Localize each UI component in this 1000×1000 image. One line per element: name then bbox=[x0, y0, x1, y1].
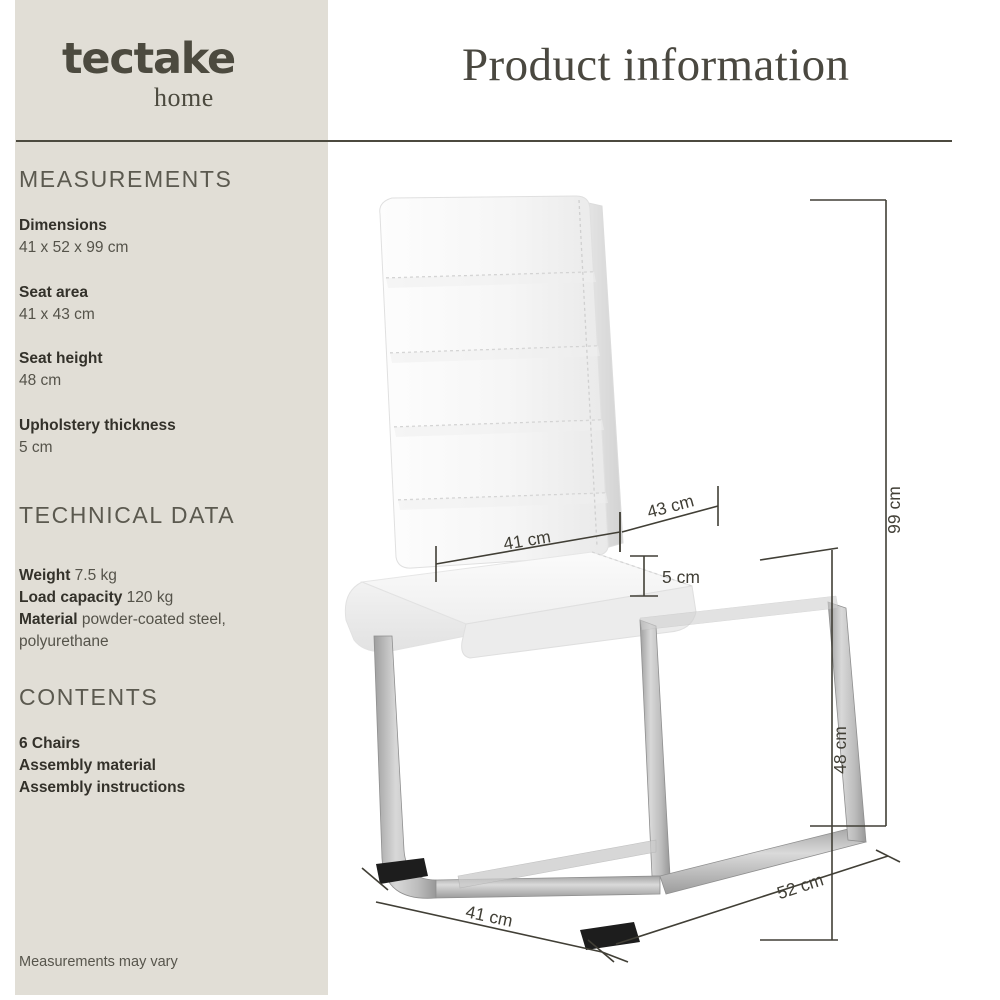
spec-seat-area: Seat area 41 x 43 cm bbox=[19, 282, 299, 326]
spec-value: 5 cm bbox=[19, 439, 53, 456]
tech-value: 7.5 kg bbox=[70, 567, 117, 584]
dim-label-base-depth: 52 cm bbox=[774, 869, 826, 903]
dim-label-seat-depth: 43 cm bbox=[645, 490, 696, 522]
brand-subname: home bbox=[154, 85, 312, 111]
dim-label-total-height: 99 cm bbox=[884, 486, 904, 534]
measurements-disclaimer: Measurements may vary bbox=[19, 954, 178, 970]
contents-list: 6 Chairs Assembly material Assembly inst… bbox=[19, 733, 299, 799]
product-information-sheet: tectake home Product information MEASURE… bbox=[0, 0, 1000, 1000]
contents-item: 6 Chairs bbox=[19, 735, 80, 752]
foot-cap-front-right bbox=[580, 922, 640, 950]
section-heading-measurements: MEASUREMENTS bbox=[19, 166, 232, 193]
frame-rear-runner bbox=[660, 826, 866, 894]
tech-row-load-capacity: Load capacity 120 kg bbox=[19, 587, 299, 609]
brand-logo: tectake home bbox=[62, 38, 312, 111]
spec-dimensions: Dimensions 41 x 52 x 99 cm bbox=[19, 215, 299, 259]
spec-label: Seat height bbox=[19, 350, 103, 367]
tech-value: 120 kg bbox=[122, 589, 173, 606]
spec-value: 41 x 43 cm bbox=[19, 306, 95, 323]
tech-label: Load capacity bbox=[19, 589, 122, 606]
spec-value: 41 x 52 x 99 cm bbox=[19, 239, 128, 256]
tech-label: Material bbox=[19, 611, 78, 628]
tech-row-weight: Weight 7.5 kg bbox=[19, 565, 299, 587]
spec-value: 48 cm bbox=[19, 372, 61, 389]
spec-label: Dimensions bbox=[19, 217, 107, 234]
sidebar-panel bbox=[15, 0, 328, 995]
spec-upholstery-thickness: Upholstery thickness 5 cm bbox=[19, 415, 299, 459]
contents-item: Assembly material bbox=[19, 757, 156, 774]
dim-label-upholstery: 5 cm bbox=[662, 567, 700, 587]
tech-row-material: Material powder-coated steel, polyuretha… bbox=[19, 609, 299, 653]
header-divider bbox=[16, 140, 952, 142]
backrest bbox=[380, 196, 609, 568]
spec-seat-height: Seat height 48 cm bbox=[19, 348, 299, 392]
chair-diagram: 41 cm 43 cm 5 cm 99 cm 48 cm 41 cm 52 cm bbox=[340, 150, 1000, 1000]
page-title: Product information bbox=[462, 38, 849, 92]
frame-rear-upright bbox=[640, 620, 670, 876]
spec-label: Upholstery thickness bbox=[19, 417, 176, 434]
brand-name: tectake bbox=[62, 38, 312, 81]
section-heading-technical-data: TECHNICAL DATA bbox=[19, 502, 235, 529]
tech-label: Weight bbox=[19, 567, 70, 584]
frame-far-upright bbox=[828, 602, 866, 842]
section-heading-contents: CONTENTS bbox=[19, 684, 158, 711]
spec-label: Seat area bbox=[19, 284, 88, 301]
contents-item: Assembly instructions bbox=[19, 779, 185, 796]
dim-label-seat-height: 48 cm bbox=[830, 726, 850, 774]
frame-front-upright bbox=[374, 636, 436, 898]
technical-data-list: Weight 7.5 kg Load capacity 120 kg Mater… bbox=[19, 565, 299, 653]
